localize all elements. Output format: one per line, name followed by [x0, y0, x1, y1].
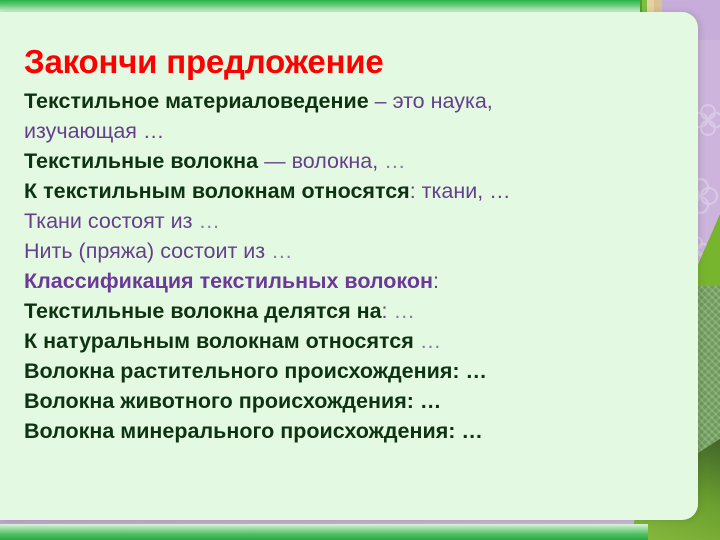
text-segment: К натуральным волокнам относятся [24, 329, 414, 353]
text-segment: Волокна минерального происхождения: … [24, 419, 483, 443]
statement-line: Текстильное материаловедение – это наука… [24, 86, 680, 116]
statement-line: Текстильные волокна — волокна, … [24, 146, 680, 176]
statement-line: Нить (пряжа) состоит из … [24, 236, 680, 266]
statement-line: Ткани состоят из … [24, 206, 680, 236]
statement-line: К натуральным волокнам относятся … [24, 326, 680, 356]
text-segment: К текстильным волокнам относятся [24, 179, 410, 203]
text-segment: … [265, 239, 292, 263]
text-segment: Текстильное материаловедение [24, 89, 369, 113]
page-title: Закончи предложение [24, 42, 680, 82]
content-panel: Закончи предложение Текстильное материал… [0, 12, 698, 520]
text-segment: … [192, 209, 219, 233]
text-segment: волокна, [292, 149, 379, 173]
statement-list: Текстильное материаловедение – это наука… [24, 86, 680, 446]
text-segment: Текстильные волокна делятся на [24, 299, 382, 323]
statement-line: Классификация текстильных волокон: [24, 266, 680, 296]
text-segment: — [258, 149, 291, 173]
statement-line: К текстильным волокнам относятся: ткани,… [24, 176, 680, 206]
statement-line: Текстильные волокна делятся на: … [24, 296, 680, 326]
text-segment: – [369, 89, 393, 113]
text-segment: изучающая [24, 119, 137, 143]
rail-bottom [0, 524, 648, 540]
statement-line: изучающая … [24, 116, 680, 146]
text-segment: … [378, 149, 405, 173]
slide-content: Закончи предложение Текстильное материал… [24, 42, 680, 446]
text-segment: это наука, [393, 89, 493, 113]
text-segment: … [388, 299, 415, 323]
statement-line: Волокна минерального происхождения: … [24, 416, 680, 446]
text-segment: Текстильные волокна [24, 149, 258, 173]
statement-line: Волокна животного происхождения: … [24, 386, 680, 416]
text-segment: Ткани состоят из [24, 209, 192, 233]
text-segment: ткани, … [416, 179, 511, 203]
slide-root: Закончи предложение Текстильное материал… [0, 0, 720, 540]
text-segment: : [433, 269, 439, 293]
text-segment: Классификация текстильных волокон [24, 269, 433, 293]
text-segment: … [137, 119, 164, 143]
text-segment: Волокна животного происхождения: … [24, 389, 441, 413]
text-segment: Нить (пряжа) состоит из [24, 239, 265, 263]
text-segment: Волокна растительного происхождения: … [24, 359, 487, 383]
statement-line: Волокна растительного происхождения: … [24, 356, 680, 386]
text-segment: … [414, 329, 441, 353]
